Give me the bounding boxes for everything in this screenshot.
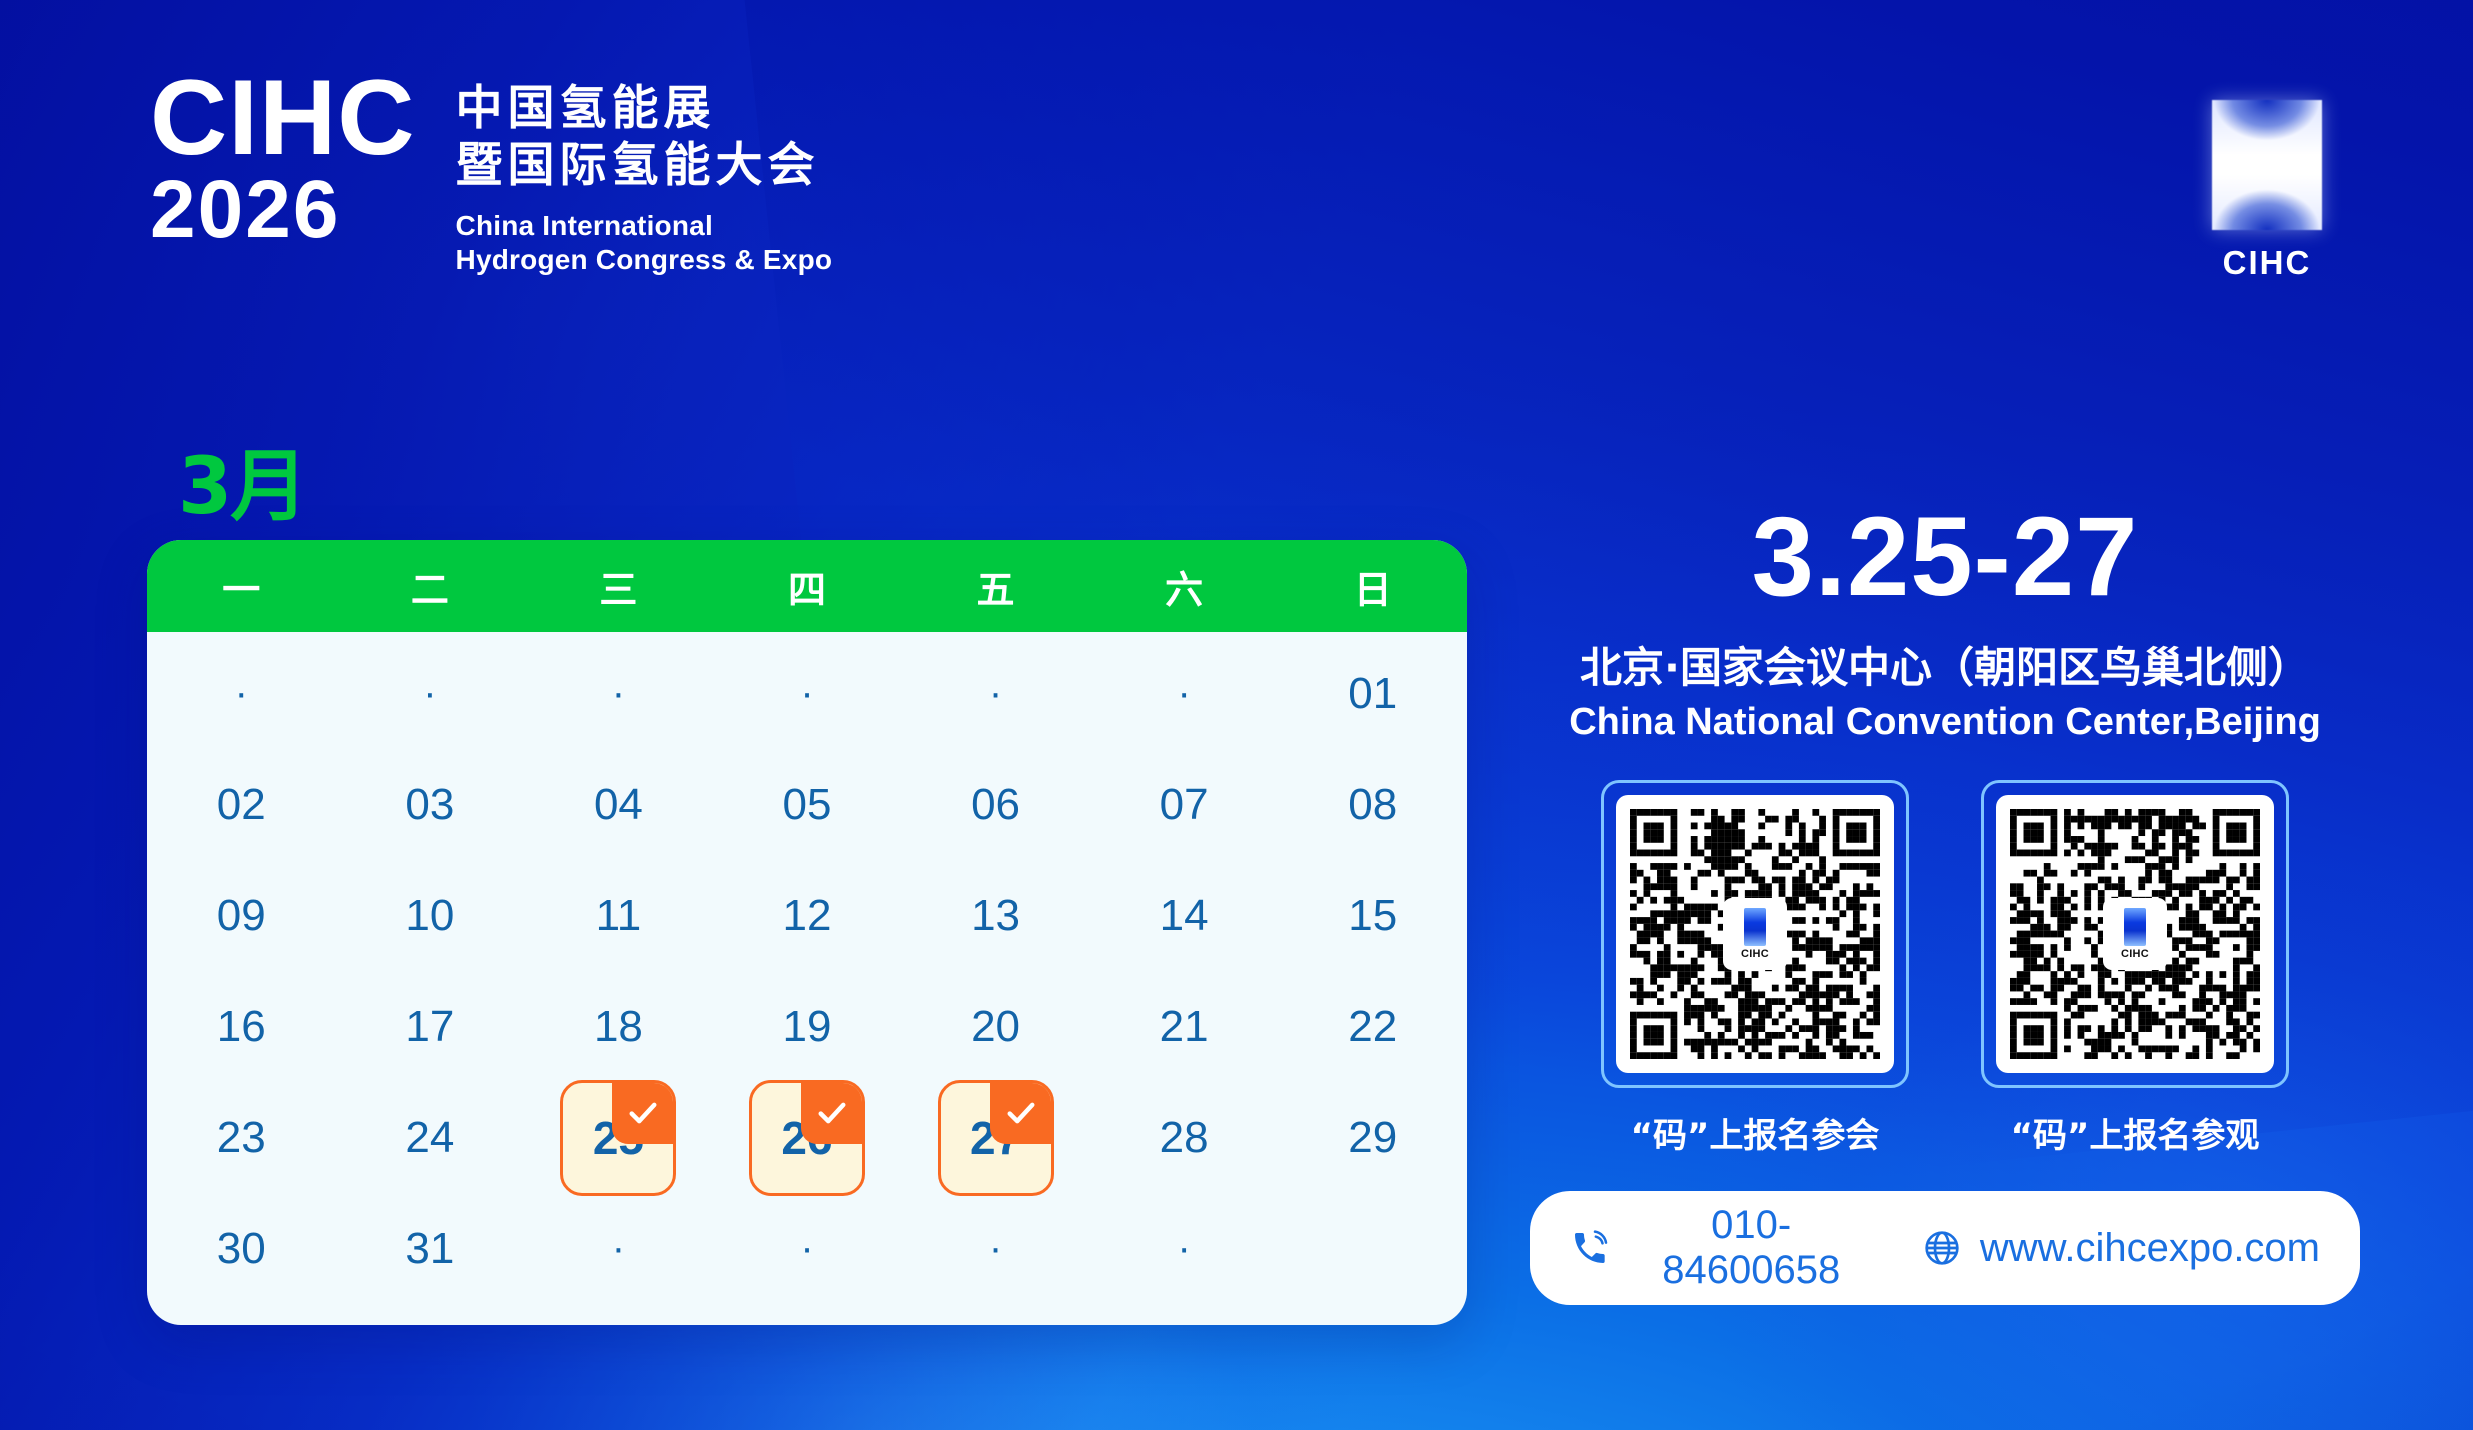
calendar-day-empty: · bbox=[713, 1193, 902, 1304]
calendar-day-31[interactable]: 31 bbox=[336, 1193, 525, 1304]
hydrogen-h-icon-slab bbox=[2212, 100, 2322, 230]
calendar-day-05[interactable]: 05 bbox=[713, 749, 902, 860]
calendar-day-30[interactable]: 30 bbox=[147, 1193, 336, 1304]
brand-name-en-line1: China International bbox=[456, 209, 833, 244]
calendar-weekday-1: 一 bbox=[147, 559, 336, 614]
qr-center-logo-icon: CIHC bbox=[1723, 898, 1787, 970]
qr-code-item-2: CIHC“码”上报名参观 bbox=[1981, 780, 2289, 1157]
calendar-day-22[interactable]: 22 bbox=[1278, 971, 1467, 1082]
calendar-day-28[interactable]: 28 bbox=[1090, 1082, 1279, 1193]
calendar-weekday-5: 五 bbox=[901, 559, 1090, 614]
contact-website[interactable]: www.cihcexpo.com bbox=[1980, 1226, 2320, 1271]
contact-bar: 010-84600658 www.cihcexpo.com bbox=[1530, 1191, 2360, 1305]
calendar-day-empty: · bbox=[336, 638, 525, 749]
calendar-day-empty: · bbox=[524, 638, 713, 749]
brand-acronym: CIHC 2026 bbox=[150, 68, 416, 248]
calendar-day-12[interactable]: 12 bbox=[713, 860, 902, 971]
qr-center-logo-label: CIHC bbox=[2121, 948, 2149, 960]
calendar-day-empty: · bbox=[901, 638, 1090, 749]
qr-code-image[interactable]: CIHC bbox=[1996, 795, 2274, 1073]
calendar-day-empty: · bbox=[524, 1193, 713, 1304]
calendar-day-empty: · bbox=[901, 1193, 1090, 1304]
calendar-day-08[interactable]: 08 bbox=[1278, 749, 1467, 860]
event-date-range: 3.25-27 bbox=[1530, 500, 2360, 614]
qr-code-caption: “码”上报名参观 bbox=[1981, 1108, 2289, 1157]
qr-code-frame[interactable]: CIHC bbox=[1601, 780, 1909, 1088]
calendar-day-02[interactable]: 02 bbox=[147, 749, 336, 860]
calendar-day-empty: · bbox=[1090, 1193, 1279, 1304]
check-badge-icon bbox=[990, 1082, 1052, 1144]
calendar-day-17[interactable]: 17 bbox=[336, 971, 525, 1082]
calendar-day-04[interactable]: 04 bbox=[524, 749, 713, 860]
calendar-day-14[interactable]: 14 bbox=[1090, 860, 1279, 971]
calendar-day-10[interactable]: 10 bbox=[336, 860, 525, 971]
phone-icon bbox=[1570, 1228, 1610, 1268]
calendar-day-09[interactable]: 09 bbox=[147, 860, 336, 971]
brand-lockup: CIHC 2026 中国氢能展 暨国际氢能大会 China Internatio… bbox=[150, 68, 832, 278]
calendar-grid: ······0102030405060708091011121314151617… bbox=[147, 632, 1467, 1322]
contact-phone-number[interactable]: 010-84600658 bbox=[1628, 1203, 1874, 1293]
brand-acronym-line1: CIHC bbox=[150, 68, 416, 166]
brand-name-cn-line1: 中国氢能展 bbox=[456, 80, 833, 137]
calendar-weekday-3: 三 bbox=[524, 559, 713, 614]
qr-code-row: CIHC“码”上报名参会CIHC“码”上报名参观 bbox=[1530, 780, 2360, 1157]
calendar-day-20[interactable]: 20 bbox=[901, 971, 1090, 1082]
banner-canvas: CIHC 2026 中国氢能展 暨国际氢能大会 China Internatio… bbox=[0, 0, 2473, 1430]
calendar-day-03[interactable]: 03 bbox=[336, 749, 525, 860]
brand-name-cn-line2: 暨国际氢能大会 bbox=[456, 137, 833, 194]
cihc-logo-mark-label: CIHC bbox=[2212, 244, 2322, 282]
calendar-day-06[interactable]: 06 bbox=[901, 749, 1090, 860]
calendar-weekday-header: 一二三四五六日 bbox=[147, 540, 1467, 632]
calendar-day-selected-27[interactable]: 27 bbox=[901, 1082, 1090, 1193]
calendar-day-selected-25[interactable]: 25 bbox=[524, 1082, 713, 1193]
hydrogen-h-icon bbox=[2212, 100, 2322, 230]
month-label: 3月 bbox=[178, 448, 306, 526]
calendar-day-empty: · bbox=[147, 638, 336, 749]
calendar-day-15[interactable]: 15 bbox=[1278, 860, 1467, 971]
calendar-day-11[interactable]: 11 bbox=[524, 860, 713, 971]
calendar-weekday-2: 二 bbox=[336, 559, 525, 614]
qr-center-logo-glyph bbox=[2124, 908, 2146, 946]
event-venue-en: China National Convention Center,Beijing bbox=[1530, 701, 2360, 744]
check-badge-icon bbox=[612, 1082, 674, 1144]
calendar-day-23[interactable]: 23 bbox=[147, 1082, 336, 1193]
qr-code-caption: “码”上报名参会 bbox=[1601, 1108, 1909, 1157]
calendar-day-07[interactable]: 07 bbox=[1090, 749, 1279, 860]
calendar-day-empty: · bbox=[713, 638, 902, 749]
calendar-weekday-7: 日 bbox=[1278, 559, 1467, 614]
calendar-day-21[interactable]: 21 bbox=[1090, 971, 1279, 1082]
calendar-day-selected-26[interactable]: 26 bbox=[713, 1082, 902, 1193]
calendar-day-24[interactable]: 24 bbox=[336, 1082, 525, 1193]
calendar-day-16[interactable]: 16 bbox=[147, 971, 336, 1082]
brand-name-en-line2: Hydrogen Congress & Expo bbox=[456, 243, 833, 278]
calendar-day-tile[interactable]: 26 bbox=[749, 1080, 865, 1196]
cihc-logo-mark: CIHC bbox=[2212, 100, 2322, 282]
calendar-day-tile[interactable]: 25 bbox=[560, 1080, 676, 1196]
calendar-weekday-6: 六 bbox=[1090, 559, 1279, 614]
calendar-weekday-4: 四 bbox=[713, 559, 902, 614]
calendar-day-empty bbox=[1278, 1193, 1467, 1304]
calendar-card: 一二三四五六日 ······01020304050607080910111213… bbox=[147, 540, 1467, 1325]
calendar-day-19[interactable]: 19 bbox=[713, 971, 902, 1082]
event-venue-cn: 北京·国家会议中心（朝阳区鸟巢北侧） bbox=[1530, 634, 2360, 695]
qr-center-logo-label: CIHC bbox=[1741, 948, 1769, 960]
calendar-day-18[interactable]: 18 bbox=[524, 971, 713, 1082]
qr-center-logo-icon: CIHC bbox=[2103, 898, 2167, 970]
check-badge-icon bbox=[801, 1082, 863, 1144]
calendar-day-empty: · bbox=[1090, 638, 1279, 749]
qr-code-item-1: CIHC“码”上报名参会 bbox=[1601, 780, 1909, 1157]
brand-names: 中国氢能展 暨国际氢能大会 China International Hydrog… bbox=[456, 68, 833, 278]
qr-center-logo-glyph bbox=[1744, 908, 1766, 946]
brand-acronym-year: 2026 bbox=[150, 172, 416, 247]
calendar-day-tile[interactable]: 27 bbox=[938, 1080, 1054, 1196]
qr-code-image[interactable]: CIHC bbox=[1616, 795, 1894, 1073]
calendar-day-01[interactable]: 01 bbox=[1278, 638, 1467, 749]
calendar-day-29[interactable]: 29 bbox=[1278, 1082, 1467, 1193]
calendar-day-13[interactable]: 13 bbox=[901, 860, 1090, 971]
globe-icon bbox=[1922, 1228, 1962, 1268]
event-info-panel: 3.25-27 北京·国家会议中心（朝阳区鸟巢北侧） China Nationa… bbox=[1530, 500, 2360, 1305]
qr-code-frame[interactable]: CIHC bbox=[1981, 780, 2289, 1088]
